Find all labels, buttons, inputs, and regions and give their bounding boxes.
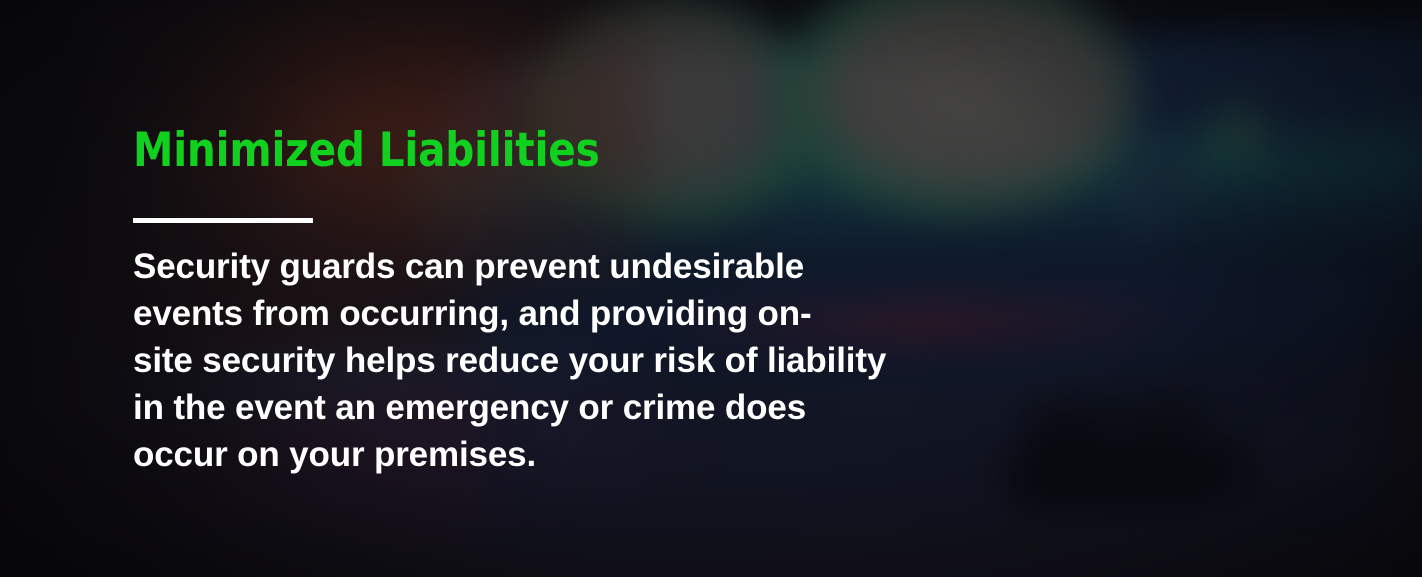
body-line: site security helps reduce your risk of … <box>133 337 953 384</box>
hero-banner: Minimized Liabilities Security guards ca… <box>0 0 1422 577</box>
body-line: in the event an emergency or crime does <box>133 384 953 431</box>
body-line: events from occurring, and providing on- <box>133 290 953 337</box>
body-line: Security guards can prevent undesirable <box>133 243 953 290</box>
banner-content: Minimized Liabilities Security guards ca… <box>133 0 1033 577</box>
page-title: Minimized Liabilities <box>133 127 600 174</box>
body-line: occur on your premises. <box>133 431 953 478</box>
banner-body-text: Security guards can prevent undesirable … <box>133 243 953 478</box>
title-divider <box>133 218 313 223</box>
